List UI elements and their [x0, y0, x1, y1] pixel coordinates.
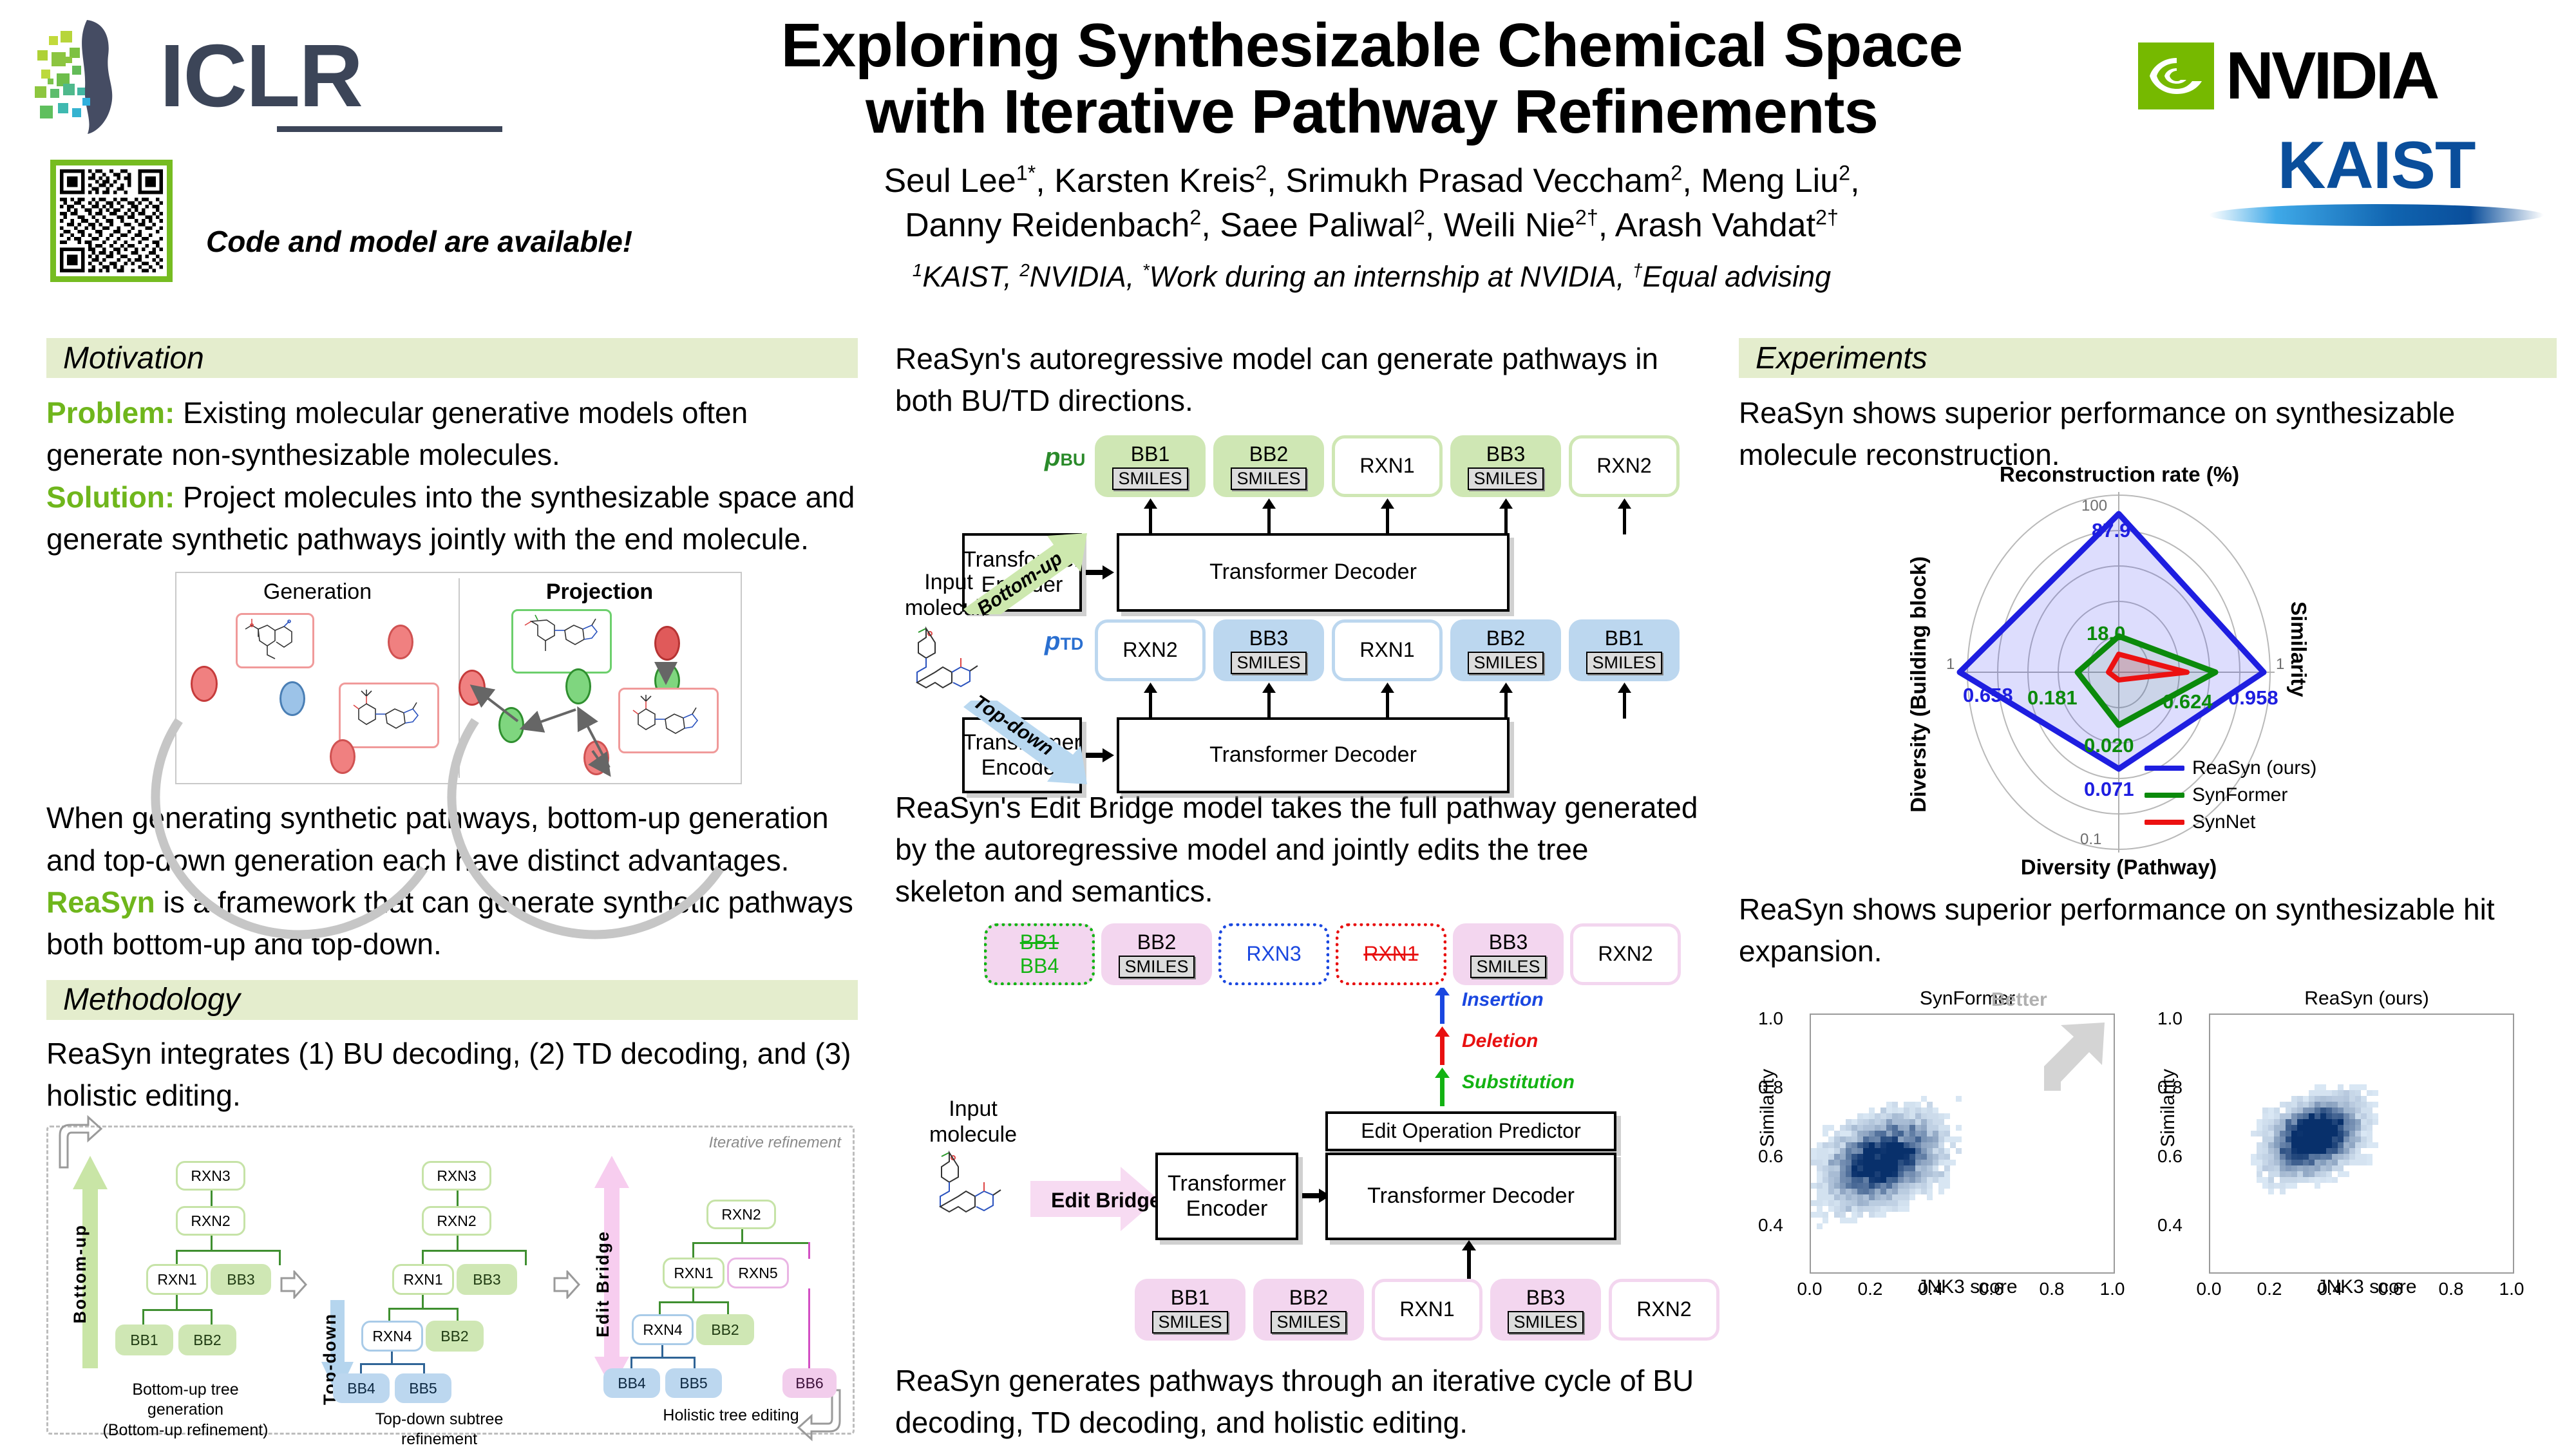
transformer-decoder-eb: Transformer Decoder [1325, 1153, 1616, 1240]
iclr-mark-icon [26, 17, 148, 136]
p-td-letter: p [1045, 627, 1060, 655]
radar-chart: Reconstruction rate (%) Similarity Diver… [1887, 479, 2531, 865]
panel3-caption: Holistic tree editing [628, 1406, 834, 1426]
xtick: 1.0 [2499, 1279, 2524, 1299]
bottom-up-vlabel: Bottom-up [70, 1224, 90, 1323]
node-rxn2-p1: RXN2 [176, 1206, 245, 1236]
token-rxn1-edit: RXN1 [1336, 923, 1446, 985]
edit-bridge-arrow-label: Edit Bridge [1051, 1189, 1161, 1212]
node-rxn2-p3: RXN2 [706, 1200, 776, 1229]
bu-token-row: BB1SMILES BB2SMILES RXN1 BB3SMILES RXN2 [1095, 435, 1680, 497]
token-bb2-td: BB2SMILES [1450, 619, 1561, 681]
radar-value-synformer-right: 0.624 [2163, 690, 2213, 713]
token-bb3-bu: BB3SMILES [1450, 435, 1561, 497]
scatter-points-reasyn [2210, 1015, 2513, 1272]
section-title-motivation: Motivation [63, 341, 204, 376]
code-available-caption: Code and model are available! [206, 224, 632, 259]
tree-link [176, 1295, 178, 1310]
point-red-3 [330, 739, 355, 774]
tree-link [692, 1242, 810, 1244]
methodology-tree-figure: Iterative refinement Bottom-up Top-down … [46, 1126, 855, 1435]
title-line-1: Exploring Synthesizable Chemical Space [670, 13, 2074, 79]
iterative-refinement-label: Iterative refinement [709, 1134, 841, 1152]
token-rxn1-bu: RXN1 [1332, 435, 1443, 497]
transformer-decoder-td: Transformer Decoder [1117, 717, 1510, 793]
bu-td-text-b: is a framework that can generate synthet… [46, 885, 853, 961]
tree-link [525, 1250, 527, 1265]
edit-op-substitution-label: Substitution [1462, 1071, 1575, 1093]
nvidia-eye-icon [2138, 42, 2214, 109]
edit-op-arrows [1431, 988, 1454, 1110]
title-block: Exploring Synthesizable Chemical Space w… [670, 13, 2074, 296]
legend-swatch-synformer [2145, 793, 2184, 798]
xtick: 0.6 [1979, 1279, 2004, 1299]
tree-link [422, 1250, 424, 1265]
p-td-subscript: TD [1060, 634, 1083, 654]
p-bu-subscript: BU [1060, 450, 1085, 469]
xtick: 0.8 [2439, 1279, 2464, 1299]
scatter-panel-reasyn: ReaSyn (ours) JNK3 score [2209, 988, 2524, 1298]
tree-link [142, 1309, 144, 1326]
panel2-caption: Top-down subtree refinement [339, 1410, 539, 1450]
autoregressive-paragraph: ReaSyn's autoregressive model can genera… [895, 338, 1700, 422]
author-line-2: Danny Reidenbach2, Saee Paliwal2, Weili … [670, 203, 2074, 248]
token-bb2-bu: BB2SMILES [1213, 435, 1324, 497]
scatter-frame-reasyn [2209, 1014, 2514, 1274]
title-line-2: with Iterative Pathway Refinements [670, 79, 2074, 146]
token-rxn2-eb-bottom: RXN2 [1609, 1279, 1719, 1341]
legend-label-synformer: SynFormer [2192, 784, 2287, 806]
p-bu-letter: p [1045, 443, 1060, 471]
better-annotation: Better [1991, 989, 2047, 1011]
node-bb5-p2: BB5 [395, 1373, 451, 1403]
tree-link [741, 1229, 743, 1243]
radar-value-synformer-left: 0.181 [2027, 686, 2078, 710]
legend-item-reasyn: ReaSyn (ours) [2145, 757, 2316, 779]
panel1-caption-l2: (Bottom-up refinement) [102, 1421, 268, 1439]
radar-axis-label-top: Reconstruction rate (%) [1968, 462, 2271, 487]
node-rxn1-p3: RXN1 [663, 1258, 724, 1288]
problem-label: Problem: [46, 396, 175, 429]
radar-value-reasyn-left: 0.658 [1963, 684, 2013, 707]
reasyn-brand: ReaSyn [46, 885, 155, 919]
tree-link [808, 1288, 810, 1375]
panel1-caption-l1: Bottom-up tree generation [132, 1381, 238, 1419]
input-molecule-label-eb: Inputmolecule [925, 1096, 1021, 1149]
figure-label-generation: Generation [176, 580, 459, 605]
token-rxn2-bu: RXN2 [1569, 435, 1680, 497]
node-rxn4-p3: RXN4 [632, 1314, 694, 1345]
tree-link [279, 1250, 281, 1265]
scatter-panel-synformer: SynFormer JNK3 score [1810, 988, 2125, 1298]
token-bb2-edit: BB2SMILES [1101, 923, 1212, 985]
tree-link [457, 1308, 459, 1322]
hit-expansion-paragraph: ReaSyn shows superior performance on syn… [1739, 889, 2557, 973]
scatter-frame-synformer [1810, 1014, 2115, 1274]
tree-link [360, 1363, 424, 1365]
radar-legend: ReaSyn (ours) SynFormer SynNet [2145, 757, 2316, 838]
radar-axis-label-right: Similarity [2286, 601, 2311, 697]
tree-link [808, 1242, 810, 1259]
molecule-thumb-1 [236, 613, 314, 668]
projection-arrows [447, 599, 717, 786]
xtick: 1.0 [2100, 1279, 2125, 1299]
tree-link [422, 1295, 424, 1309]
node-rxn2-p2: RXN2 [422, 1206, 491, 1236]
kaist-wordmark: KAIST [2209, 132, 2544, 199]
section-title-experiments: Experiments [1756, 341, 1927, 376]
edit-op-deletion-label: Deletion [1462, 1030, 1538, 1052]
scatter-ytick-0.6-left: 0.6 [1758, 1146, 1783, 1167]
nvidia-wordmark: NVIDIA [2226, 42, 2437, 109]
tree-link [661, 1345, 663, 1358]
node-rxn3-p2: RXN3 [422, 1161, 491, 1191]
radar-tick-right: 1 [2276, 655, 2284, 674]
left-column: Motivation Problem: Existing molecular g… [46, 338, 858, 1435]
scatter-ytick-1.0-right: 1.0 [2157, 1008, 2183, 1029]
radar-value-reasyn-right: 0.958 [2228, 686, 2278, 710]
radar-value-reasyn-bottom: 0.071 [2084, 778, 2134, 801]
generation-projection-figure: Generation Projection [175, 572, 742, 784]
chevron-right-icon-2 [552, 1270, 580, 1299]
p-bu-symbol: pBU [1045, 443, 1085, 472]
radar-value-synformer-top: 18.0 [2087, 622, 2125, 645]
node-bb6-p3: BB6 [782, 1368, 837, 1398]
section-title-methodology: Methodology [63, 982, 240, 1017]
qr-code-icon [60, 169, 163, 272]
qr-code[interactable] [50, 160, 173, 282]
token-bb1-eb-bottom: BB1SMILES [1135, 1279, 1245, 1341]
better-arrow-icon [2032, 1020, 2110, 1097]
section-header-experiments: Experiments [1739, 338, 2557, 378]
tree-link [142, 1309, 212, 1311]
transformer-encoder-eb: TransformerEncoder [1155, 1153, 1298, 1240]
xtick: 0.2 [2257, 1279, 2282, 1299]
radar-value-synformer-bottom: 0.020 [2084, 734, 2134, 757]
kaist-logo: KAIST [2209, 132, 2544, 226]
input-molecule-structure-eb [923, 1145, 1027, 1239]
token-rxn1-eb-bottom: RXN1 [1372, 1279, 1482, 1341]
xtick: 0.4 [2318, 1279, 2343, 1299]
edit-bridge-figure: BB1 BB4 BB2SMILES RXN3 RXN1 BB3SMILES RX… [895, 923, 1700, 1284]
methodology-text: ReaSyn integrates (1) BU decoding, (2) T… [46, 1033, 858, 1117]
radar-tick-top: 100 [2081, 497, 2107, 515]
chevron-right-icon-1 [279, 1270, 307, 1299]
token-bb3-td: BB3SMILES [1213, 619, 1324, 681]
token-bb3-eb-bottom: BB3SMILES [1490, 1279, 1601, 1341]
xtick: 0.4 [1918, 1279, 1944, 1299]
xtick: 0.0 [2197, 1279, 2222, 1299]
node-bb3-p1: BB3 [211, 1264, 271, 1295]
tree-link [694, 1357, 696, 1370]
legend-label-synnet: SynNet [2192, 811, 2255, 833]
legend-swatch-reasyn [2145, 766, 2184, 771]
node-bb4-p2: BB4 [333, 1373, 390, 1403]
td-arrows [1095, 683, 1674, 719]
node-rxn3-p1: RXN3 [176, 1161, 245, 1191]
scatter-ytick-1.0-left: 1.0 [1758, 1008, 1783, 1029]
author-line-1: Seul Lee1*, Karsten Kreis2, Srimukh Pras… [670, 159, 2074, 203]
tree-link [211, 1236, 213, 1251]
scatter-ytick-0.4-left: 0.4 [1758, 1215, 1783, 1236]
tree-link [727, 1301, 729, 1315]
p-td-symbol: pTD [1045, 627, 1083, 656]
scatter-xlabel-synformer: JNK3 score [1810, 1276, 2125, 1298]
tree-link [630, 1357, 695, 1359]
tree-link [630, 1357, 632, 1370]
molecule-thumb-2 [339, 683, 439, 748]
transformer-decoder-bu: Transformer Decoder [1117, 533, 1510, 612]
node-bb2-p3: BB2 [696, 1314, 754, 1345]
solution-label: Solution: [46, 480, 175, 514]
section-header-motivation: Motivation [46, 338, 858, 378]
tree-link [388, 1308, 390, 1322]
point-red-1 [191, 666, 218, 702]
point-red-2 [388, 625, 413, 659]
autoregressive-figure: pBU BB1SMILES BB2SMILES RXN1 BB3SMILES R… [895, 434, 1700, 769]
token-rxn1-td: RXN1 [1332, 619, 1443, 681]
tree-link [388, 1308, 458, 1310]
node-bb2-p1: BB2 [178, 1325, 236, 1355]
token-bb2-eb-bottom: BB2SMILES [1253, 1279, 1364, 1341]
token-bb3-edit: BB3SMILES [1453, 923, 1564, 985]
tree-link [457, 1236, 459, 1251]
token-bb1-bb4-edit: BB1 BB4 [984, 923, 1095, 985]
legend-swatch-synnet [2145, 820, 2184, 825]
edit-operation-predictor: Edit Operation Predictor [1325, 1111, 1616, 1151]
node-bb4-p3: BB4 [603, 1368, 660, 1398]
edit-op-insertion-label: Insertion [1462, 989, 1544, 1011]
tree-link [176, 1250, 280, 1252]
scatter-title-reasyn: ReaSyn (ours) [2209, 988, 2524, 1010]
xtick: 0.2 [1858, 1279, 1883, 1299]
tree-link [692, 1242, 694, 1259]
node-rxn5-p3: RXN5 [727, 1258, 789, 1288]
bu-arrows [1095, 498, 1674, 534]
node-bb2-p2: BB2 [426, 1321, 484, 1352]
node-rxn1-p1: RXN1 [146, 1264, 208, 1295]
radar-tick-left: 1 [1946, 655, 1955, 674]
node-rxn1-p2: RXN1 [392, 1264, 454, 1295]
node-bb3-p2: BB3 [457, 1264, 517, 1295]
motivation-text: Problem: Existing molecular generative m… [46, 392, 858, 560]
kaist-swoosh-icon [2209, 204, 2544, 226]
node-rxn4-p2: RXN4 [361, 1321, 423, 1352]
tree-link [422, 1250, 526, 1252]
edit-bridge-token-row: BB1 BB4 BB2SMILES RXN3 RXN1 BB3SMILES RX… [984, 923, 1681, 985]
legend-label-reasyn: ReaSyn (ours) [2192, 757, 2316, 779]
iclr-wordmark: ICLR [160, 32, 362, 120]
section-header-methodology: Methodology [46, 980, 858, 1020]
iclr-logo: ICLR [26, 12, 515, 140]
edit-bridge-vlabel: Edit Bridge [593, 1230, 613, 1337]
edit-bridge-paragraph: ReaSyn's Edit Bridge model takes the ful… [895, 787, 1700, 913]
radar-value-reasyn-top: 87.9 [2092, 519, 2130, 542]
radar-axis-label-bottom: Diversity (Pathway) [1990, 855, 2248, 880]
tree-link [659, 1301, 728, 1303]
affiliations: 1KAIST, 2NVIDIA, *Work during an interns… [670, 258, 2074, 296]
scatter-xlabel-reasyn: JNK3 score [2209, 1276, 2524, 1298]
hit-expansion-figures: SynFormer JNK3 score Better Similarity 1… [1739, 988, 2557, 1348]
radar-axis-label-left: Diversity (Building block) [1906, 556, 1931, 813]
td-token-row: RXN2 BB3SMILES RXN1 BB2SMILES BB1SMILES [1095, 619, 1680, 681]
xtick: 0.8 [2040, 1279, 2065, 1299]
iclr-underline [277, 126, 502, 132]
author-list: Seul Lee1*, Karsten Kreis2, Srimukh Pras… [670, 159, 2074, 247]
point-blue-1 [279, 681, 305, 716]
token-rxn2-td: RXN2 [1095, 619, 1206, 681]
tree-link [692, 1288, 694, 1303]
cycle-paragraph: ReaSyn generates pathways through an ite… [895, 1360, 1700, 1444]
tree-link [211, 1309, 213, 1326]
radar-tick-bottom: 0.1 [2080, 831, 2101, 849]
scatter-ytick-0.6-right: 0.6 [2157, 1146, 2183, 1167]
scatter-title-synformer: SynFormer [1810, 988, 2125, 1010]
token-rxn2-edit: RXN2 [1570, 923, 1681, 985]
middle-column: ReaSyn's autoregressive model can genera… [895, 338, 1700, 1444]
xtick: 0.0 [1797, 1279, 1823, 1299]
panel1-caption: Bottom-up tree generation (Bottom-up ref… [92, 1380, 279, 1440]
token-bb1-td: BB1SMILES [1569, 619, 1680, 681]
token-bb1-bu: BB1SMILES [1095, 435, 1206, 497]
tree-link [176, 1250, 178, 1265]
poster-header: ICLR [0, 0, 2576, 322]
scatter-ytick-0.8-right: 0.8 [2157, 1077, 2183, 1098]
right-column: Experiments ReaSyn shows superior perfor… [1739, 338, 2557, 1348]
scatter-ytick-0.8-left: 0.8 [1758, 1077, 1783, 1098]
edit-bridge-bottom-token-row: BB1SMILES BB2SMILES RXN1 BB3SMILES RXN2 [1135, 1279, 1719, 1341]
node-bb5-p3: BB5 [665, 1368, 722, 1398]
token-rxn3-edit: RXN3 [1218, 923, 1329, 985]
legend-item-synnet: SynNet [2145, 811, 2316, 833]
nvidia-logo: NVIDIA [2138, 39, 2437, 113]
page-title: Exploring Synthesizable Chemical Space w… [670, 13, 2074, 145]
xtick: 0.6 [2378, 1279, 2403, 1299]
node-bb1-p1: BB1 [115, 1325, 173, 1355]
eb-bottom-arrow [1458, 1240, 1481, 1280]
legend-item-synformer: SynFormer [2145, 784, 2316, 806]
scatter-ytick-0.4-right: 0.4 [2157, 1215, 2183, 1236]
tree-link [659, 1301, 661, 1315]
tree-link [391, 1352, 393, 1364]
